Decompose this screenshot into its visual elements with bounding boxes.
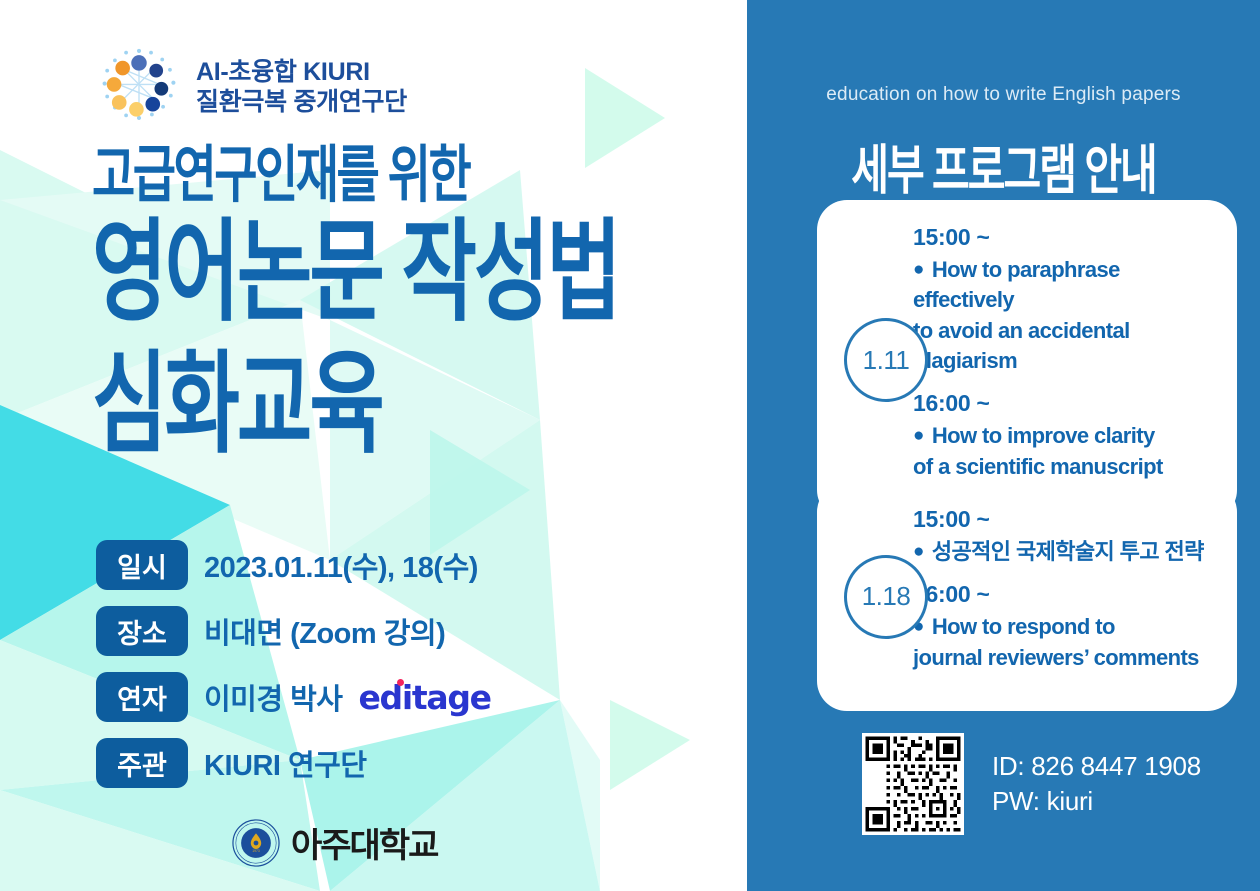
- session-topic-line: ●How to paraphrase effectively: [913, 255, 1215, 316]
- info-label-speaker: 연자: [96, 672, 188, 722]
- session-topic-text: How to improve clarity: [932, 423, 1155, 448]
- qr-code-icon: [862, 733, 964, 835]
- program-title: 세부 프로그램 안내: [747, 126, 1260, 204]
- page-title: 고급연구인재를 위한 영어논문 작성법 심화교육: [92, 143, 619, 432]
- zoom-password: PW: kiuri: [992, 784, 1201, 819]
- kiuri-logo-text: AI-초융합 KIURI 질환극복 중개연구단: [196, 57, 407, 118]
- headline-line2: 영어논문 작성법: [92, 218, 619, 329]
- info-value-venue: 비대면 (Zoom 강의): [204, 610, 445, 652]
- schedule-card: 15:00 ~ ●성공적인 국제학술지 투고 전략 16:00 ~ ●How t…: [817, 482, 1237, 711]
- info-value-date: 2023.01.11(수), 18(수): [204, 544, 478, 586]
- bullet-icon: ●: [913, 259, 924, 280]
- kiuri-logo: AI-초융합 KIURI 질환극복 중개연구단: [96, 44, 407, 130]
- session-topic-text: 성공적인 국제학술지 투고 전략: [932, 539, 1204, 564]
- bullet-icon: ●: [913, 541, 924, 562]
- bullet-icon: ●: [913, 425, 924, 446]
- session-group: 15:00 ~ ●How to paraphrase effectively t…: [913, 224, 1215, 376]
- headline-line1: 고급연구인재를 위한: [92, 143, 619, 205]
- kiuri-logo-line1: AI-초융합 KIURI: [196, 57, 407, 88]
- editage-logo: editage: [358, 678, 490, 717]
- info-label-date: 일시: [96, 540, 188, 590]
- zoom-credentials: ID: 826 8447 1908 PW: kiuri: [992, 749, 1201, 819]
- info-row-host: 주관 KIURI 연구단: [96, 738, 491, 788]
- kiuri-logo-line2: 질환극복 중개연구단: [196, 87, 407, 118]
- zoom-access-block: ID: 826 8447 1908 PW: kiuri: [862, 733, 1201, 835]
- session-time: 16:00 ~: [913, 581, 1215, 608]
- network-nodes-icon: [96, 44, 182, 130]
- schedule-card: 15:00 ~ ●How to paraphrase effectively t…: [817, 200, 1237, 520]
- info-label-host: 주관: [96, 738, 188, 788]
- left-panel: AI-초융합 KIURI 질환극복 중개연구단 고급연구인재를 위한 영어논문 …: [0, 0, 747, 891]
- session-group: 16:00 ~ ●How to respond to journal revie…: [913, 581, 1215, 673]
- session-topic-text: How to respond to: [932, 614, 1115, 639]
- session-topic-line: of a scientific manuscript: [913, 452, 1215, 482]
- ajou-university-seal-icon: 1973: [232, 819, 280, 867]
- info-row-speaker: 연자 이미경 박사 editage: [96, 672, 491, 722]
- session-group: 15:00 ~ ●성공적인 국제학술지 투고 전략: [913, 506, 1215, 567]
- ajou-university-name: 아주대학교: [291, 818, 437, 867]
- poster-root: AI-초융합 KIURI 질환극복 중개연구단 고급연구인재를 위한 영어논문 …: [0, 0, 1260, 891]
- session-time: 15:00 ~: [913, 506, 1215, 533]
- session-topic-text: How to paraphrase effectively: [913, 257, 1120, 312]
- session-topic-line: ●How to respond to: [913, 612, 1215, 642]
- headline-line3: 심화교육: [92, 350, 619, 461]
- schedule-date-badge: 1.18: [844, 555, 928, 639]
- info-value-host: KIURI 연구단: [204, 742, 367, 784]
- schedule-date-badge: 1.11: [844, 318, 928, 402]
- svg-text:1973: 1973: [252, 849, 260, 853]
- session-topic-line: to avoid an accidental plagiarism: [913, 316, 1215, 377]
- ajou-university-footer: 1973 아주대학교: [232, 818, 437, 867]
- session-topic-line: ●How to improve clarity: [913, 421, 1215, 451]
- session-time: 15:00 ~: [913, 224, 1215, 251]
- right-panel: education on how to write English papers…: [747, 0, 1260, 891]
- session-topic-line: ●성공적인 국제학술지 투고 전략: [913, 537, 1215, 567]
- zoom-meeting-id: ID: 826 8447 1908: [992, 749, 1201, 784]
- info-label-venue: 장소: [96, 606, 188, 656]
- session-topic-line: journal reviewers’ comments: [913, 643, 1215, 673]
- info-row-venue: 장소 비대면 (Zoom 강의): [96, 606, 491, 656]
- event-info-list: 일시 2023.01.11(수), 18(수) 장소 비대면 (Zoom 강의)…: [96, 540, 491, 804]
- info-value-speaker: 이미경 박사: [204, 676, 342, 718]
- session-group: 16:00 ~ ●How to improve clarity of a sci…: [913, 390, 1215, 482]
- editage-dot-icon: [397, 679, 404, 686]
- program-subtitle: education on how to write English papers: [747, 84, 1260, 106]
- info-row-date: 일시 2023.01.11(수), 18(수): [96, 540, 491, 590]
- session-time: 16:00 ~: [913, 390, 1215, 417]
